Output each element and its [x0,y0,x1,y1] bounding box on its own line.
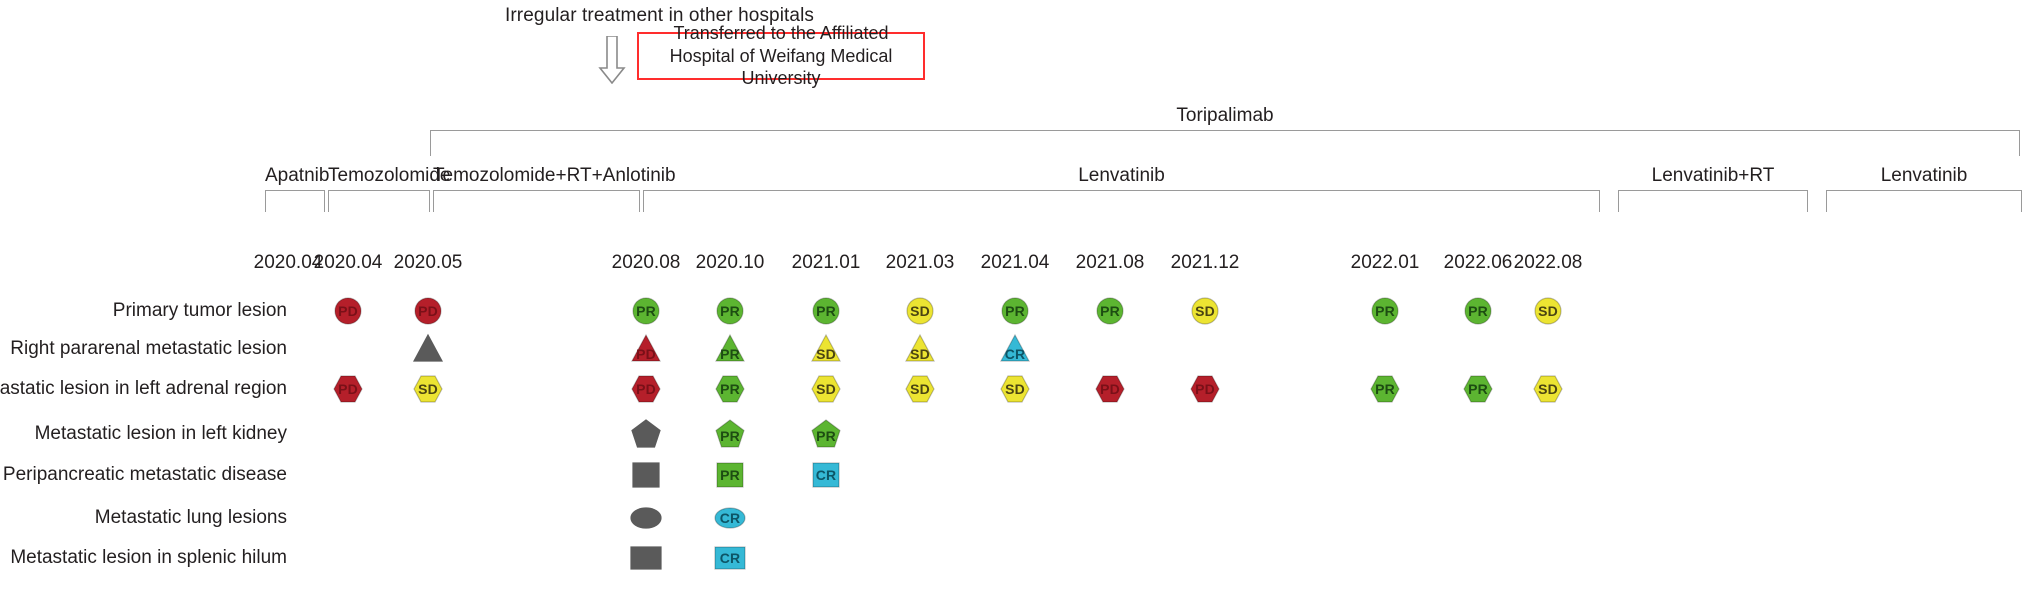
timepoint-label: 2022.06 [1444,252,1513,274]
lesion-row-label: Primary tumor lesion [113,300,287,322]
response-marker: SD [905,374,935,404]
lesion-row-labels: Primary tumor lesionRight pararenal meta… [0,0,287,599]
response-marker: SD [811,334,841,364]
response-marker: PR [631,296,661,326]
response-marker: PR [811,296,841,326]
timepoint-label: 2021.04 [981,252,1050,274]
transfer-hospital-text: Transferred to the Affiliated Hospital o… [647,22,915,90]
response-marker [631,419,661,449]
timepoint-label: 2021.08 [1076,252,1145,274]
response-marker: SD [1533,374,1563,404]
timeline-diagram: Irregular treatment in other hospitals T… [0,0,2032,599]
response-marker: SD [811,374,841,404]
timepoint-label: 2020.04 [314,252,383,274]
lesion-row-label: Metastatic lesion in splenic hilum [10,547,287,569]
response-marker: SD [413,374,443,404]
response-marker: SD [1000,374,1030,404]
response-marker: CR [715,503,745,533]
timepoint-label: 2020.10 [696,252,765,274]
timepoint-label: 2021.03 [886,252,955,274]
treatment-bracket [1618,190,1808,212]
response-marker: CR [1000,334,1030,364]
response-marker: PD [333,374,363,404]
treatment-bracket [328,190,430,212]
response-marker: PR [1463,296,1493,326]
lesion-row-label: Peripancreatic metastatic disease [3,464,287,486]
response-marker: PD [413,296,443,326]
response-marker: PD [1095,374,1125,404]
response-marker: PR [1095,296,1125,326]
treatment-bracket [643,190,1600,212]
timepoint-label: 2021.12 [1171,252,1240,274]
timepoint-label: 2021.01 [792,252,861,274]
response-marker: PR [715,374,745,404]
response-marker: PR [811,419,841,449]
response-marker: PR [715,296,745,326]
treatment-bracket-label: Toripalimab [430,105,2020,127]
response-marker: PR [715,419,745,449]
response-marker: PD [1190,374,1220,404]
treatment-bracket [430,130,2020,156]
response-marker: SD [1190,296,1220,326]
response-marker: PD [631,374,661,404]
timepoint-label: 2022.08 [1514,252,1583,274]
timepoint-label: 2020.08 [612,252,681,274]
response-marker [631,460,661,490]
treatment-bracket-label: Lenvatinib [1826,165,2022,187]
response-marker: SD [1533,296,1563,326]
response-marker: PR [1000,296,1030,326]
response-marker [631,543,661,573]
treatment-bracket-label: Temozolomide+RT+Anlotinib [433,165,640,187]
lesion-row-label: Metastatic lesion in left kidney [35,423,287,445]
treatment-bracket-label: Temozolomide [328,165,430,187]
response-marker: PR [1370,296,1400,326]
lesion-row-label: Metastatic lesion in left adrenal region [0,378,287,400]
transfer-hospital-box: Transferred to the Affiliated Hospital o… [637,32,925,80]
response-marker: CR [715,543,745,573]
response-marker: SD [905,296,935,326]
timepoint-label: 2022.01 [1351,252,1420,274]
response-marker [413,334,443,364]
response-marker: PR [715,460,745,490]
treatment-bracket-label: Lenvatinib [643,165,1600,187]
lesion-row-label: Metastatic lung lesions [95,507,287,529]
response-marker: CR [811,460,841,490]
treatment-bracket [433,190,640,212]
response-marker: PD [333,296,363,326]
response-marker: PD [631,334,661,364]
response-marker: SD [905,334,935,364]
response-marker: PR [1370,374,1400,404]
response-marker: PR [1463,374,1493,404]
response-marker: PR [715,334,745,364]
treatment-bracket [1826,190,2022,212]
timepoint-label: 2020.05 [394,252,463,274]
down-arrow-icon [598,36,626,84]
response-marker [631,503,661,533]
lesion-row-label: Right pararenal metastatic lesion [10,338,287,360]
treatment-bracket-label: Lenvatinib+RT [1618,165,1808,187]
